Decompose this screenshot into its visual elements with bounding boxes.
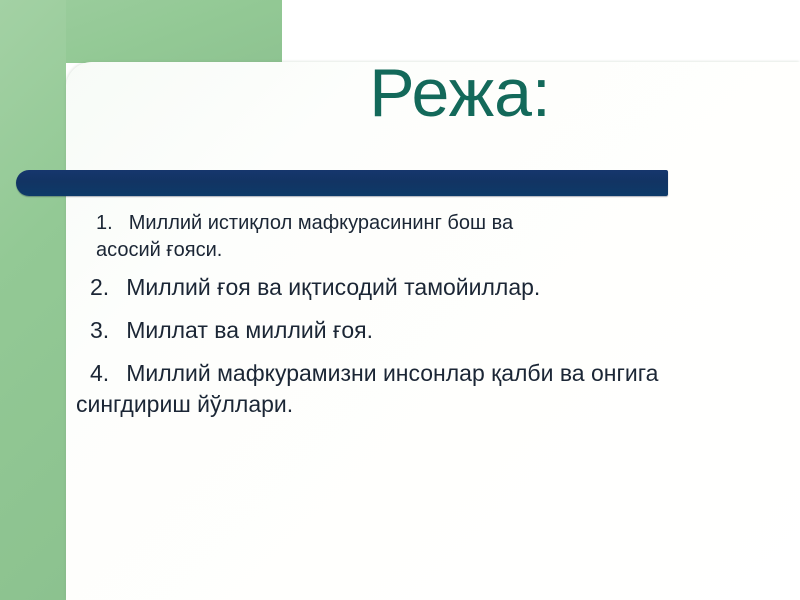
title-divider-bar <box>16 170 668 196</box>
slide-title: Режа: <box>180 58 740 129</box>
presentation-slide: Режа: 1.Миллий истиқлол мафкурасининг бо… <box>0 0 800 600</box>
list-item-text: Миллий истиқлол мафкурасининг бош ва <box>129 212 513 234</box>
list-item-number: 3. <box>90 317 109 343</box>
list-item: 2.Миллий ғоя ва иқтисодий тамойиллар. <box>66 272 766 303</box>
list-item-number: 4. <box>90 360 109 386</box>
list-item-text: Миллий мафкурамизни инсонлар қалби <box>126 360 553 386</box>
list-item-text: Миллий ғоя ва иқтисодий тамойиллар. <box>126 274 540 300</box>
green-accent-strip <box>0 0 66 600</box>
list-item-text: Миллат ва миллий ғоя. <box>126 317 373 343</box>
list-item: 4.Миллий мафкурамизни инсонлар қалби ва … <box>66 358 766 420</box>
list-item: 3.Миллат ва миллий ғоя. <box>66 315 766 346</box>
list-item-number: 1. <box>96 212 113 234</box>
list-item: 1.Миллий истиқлол мафкурасининг бош ва а… <box>66 210 766 264</box>
agenda-list: 1.Миллий истиқлол мафкурасининг бош ва а… <box>66 210 766 420</box>
list-item-text-continued: асосий ғояси. <box>96 237 766 264</box>
list-item-number: 2. <box>90 274 109 300</box>
